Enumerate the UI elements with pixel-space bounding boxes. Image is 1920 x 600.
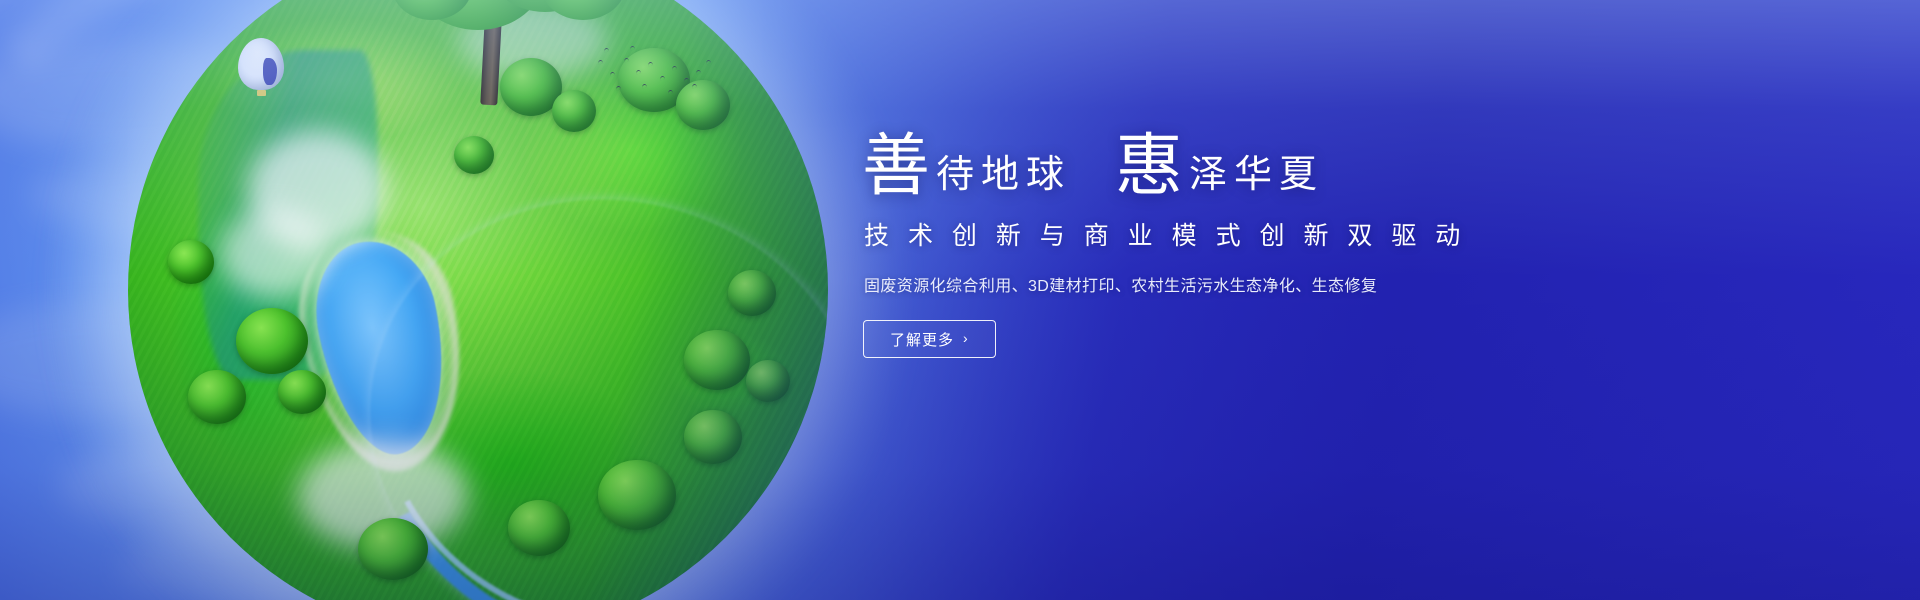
banner-description: 固废资源化综合利用、3D建材打印、农村生活污水生态净化、生态修复	[864, 272, 1562, 296]
headline-segment2-small: 泽华夏	[1183, 156, 1324, 200]
learn-more-label: 了解更多	[890, 329, 954, 350]
headline: 善 待地球 惠 泽华夏	[862, 132, 1562, 200]
banner-subtitle: 技 术 创 新 与 商 业 模 式 创 新 双 驱 动	[864, 216, 1562, 252]
hero-banner: 善 待地球 惠 泽华夏 技 术 创 新 与 商 业 模 式 创 新 双 驱 动 …	[0, 0, 1920, 600]
learn-more-button[interactable]: 了解更多 ›	[863, 320, 996, 358]
banner-content: 善 待地球 惠 泽华夏 技 术 创 新 与 商 业 模 式 创 新 双 驱 动 …	[862, 132, 1562, 358]
headline-segment1-small: 待地球	[930, 156, 1071, 200]
headline-segment2-large: 惠	[1115, 132, 1183, 200]
headline-segment1-large: 善	[862, 132, 930, 200]
chevron-right-icon: ›	[963, 331, 969, 345]
